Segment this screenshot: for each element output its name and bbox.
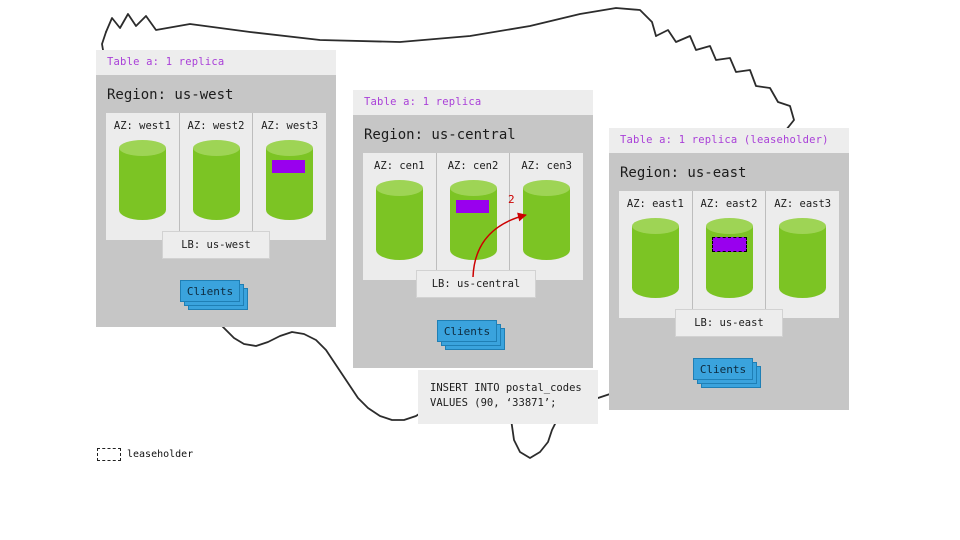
region-header-table-info: Table a: 1 replica (leaseholder) bbox=[609, 128, 849, 153]
clients-button[interactable]: Clients bbox=[437, 320, 497, 342]
load-balancer-box[interactable]: LB: us-central bbox=[416, 270, 536, 298]
cylinder-body bbox=[632, 226, 679, 298]
az-strip: AZ: cen1 AZ: cen2 AZ: cen3 bbox=[363, 153, 583, 280]
region-title: Region: us-central bbox=[353, 115, 593, 153]
az-cell-west1[interactable]: AZ: west1 bbox=[106, 113, 179, 240]
az-cell-cen1[interactable]: AZ: cen1 bbox=[363, 153, 436, 280]
cylinder-top bbox=[119, 140, 166, 156]
replica-cylinder bbox=[266, 140, 313, 220]
cylinder-body bbox=[450, 188, 497, 260]
az-cell-west3[interactable]: AZ: west3 bbox=[252, 113, 326, 240]
cylinder-top bbox=[523, 180, 570, 196]
cylinder-top bbox=[706, 218, 753, 234]
cylinder-body bbox=[523, 188, 570, 260]
leaseholder-swatch-icon bbox=[97, 448, 121, 461]
region-title: Region: us-west bbox=[96, 75, 336, 113]
clients-button[interactable]: Clients bbox=[693, 358, 753, 380]
replica-cylinder bbox=[450, 180, 497, 260]
az-label: AZ: east1 bbox=[627, 199, 684, 210]
diagram-canvas: Table a: 1 replica Region: us-west AZ: w… bbox=[0, 0, 960, 540]
range-chip bbox=[456, 200, 489, 213]
region-panel-us-central: Table a: 1 replica Region: us-central AZ… bbox=[353, 90, 593, 368]
az-label: AZ: east2 bbox=[701, 199, 758, 210]
cylinder-top bbox=[266, 140, 313, 156]
clients-stack[interactable]: Clients bbox=[437, 320, 505, 348]
az-label: AZ: west3 bbox=[261, 121, 318, 132]
region-title: Region: us-east bbox=[609, 153, 849, 191]
replica-cylinder bbox=[632, 218, 679, 298]
replica-cylinder bbox=[193, 140, 240, 220]
az-label: AZ: west2 bbox=[188, 121, 245, 132]
clients-stack[interactable]: Clients bbox=[693, 358, 761, 386]
cylinder-body bbox=[193, 148, 240, 220]
range-chip bbox=[272, 160, 305, 173]
az-cell-east1[interactable]: AZ: east1 bbox=[619, 191, 692, 318]
cylinder-body bbox=[376, 188, 423, 260]
clients-button[interactable]: Clients bbox=[180, 280, 240, 302]
az-cell-east2[interactable]: AZ: east2 bbox=[692, 191, 766, 318]
replica-cylinder bbox=[706, 218, 753, 298]
arrow-step-label: 2 bbox=[508, 194, 515, 205]
leaseholder-range-chip bbox=[712, 237, 747, 252]
az-strip: AZ: east1 AZ: east2 AZ: east3 bbox=[619, 191, 839, 318]
cylinder-body bbox=[779, 226, 826, 298]
az-label: AZ: east3 bbox=[774, 199, 831, 210]
load-balancer-box[interactable]: LB: us-west bbox=[162, 231, 270, 259]
clients-stack[interactable]: Clients bbox=[180, 280, 248, 308]
az-label: AZ: cen2 bbox=[448, 161, 499, 172]
az-label: AZ: cen3 bbox=[521, 161, 572, 172]
replica-cylinder bbox=[523, 180, 570, 260]
legend-label: leaseholder bbox=[127, 449, 193, 460]
cylinder-top bbox=[779, 218, 826, 234]
az-strip: AZ: west1 AZ: west2 AZ: west3 bbox=[106, 113, 326, 240]
region-panel-us-west: Table a: 1 replica Region: us-west AZ: w… bbox=[96, 50, 336, 327]
region-header-table-info: Table a: 1 replica bbox=[96, 50, 336, 75]
replica-cylinder bbox=[119, 140, 166, 220]
az-label: AZ: cen1 bbox=[374, 161, 425, 172]
cylinder-top bbox=[632, 218, 679, 234]
az-cell-west2[interactable]: AZ: west2 bbox=[179, 113, 253, 240]
legend: leaseholder bbox=[97, 448, 193, 461]
az-cell-cen3[interactable]: AZ: cen3 bbox=[509, 153, 583, 280]
cylinder-body bbox=[119, 148, 166, 220]
replica-cylinder bbox=[376, 180, 423, 260]
cylinder-top bbox=[193, 140, 240, 156]
cylinder-top bbox=[450, 180, 497, 196]
region-panel-us-east: Table a: 1 replica (leaseholder) Region:… bbox=[609, 128, 849, 410]
cylinder-body bbox=[266, 148, 313, 220]
cylinder-top bbox=[376, 180, 423, 196]
sql-statement-box: INSERT INTO postal_codes VALUES (90, ‘33… bbox=[418, 370, 598, 424]
region-header-table-info: Table a: 1 replica bbox=[353, 90, 593, 115]
az-label: AZ: west1 bbox=[114, 121, 171, 132]
az-cell-east3[interactable]: AZ: east3 bbox=[765, 191, 839, 318]
replica-cylinder bbox=[779, 218, 826, 298]
load-balancer-box[interactable]: LB: us-east bbox=[675, 309, 783, 337]
az-cell-cen2[interactable]: AZ: cen2 bbox=[436, 153, 510, 280]
